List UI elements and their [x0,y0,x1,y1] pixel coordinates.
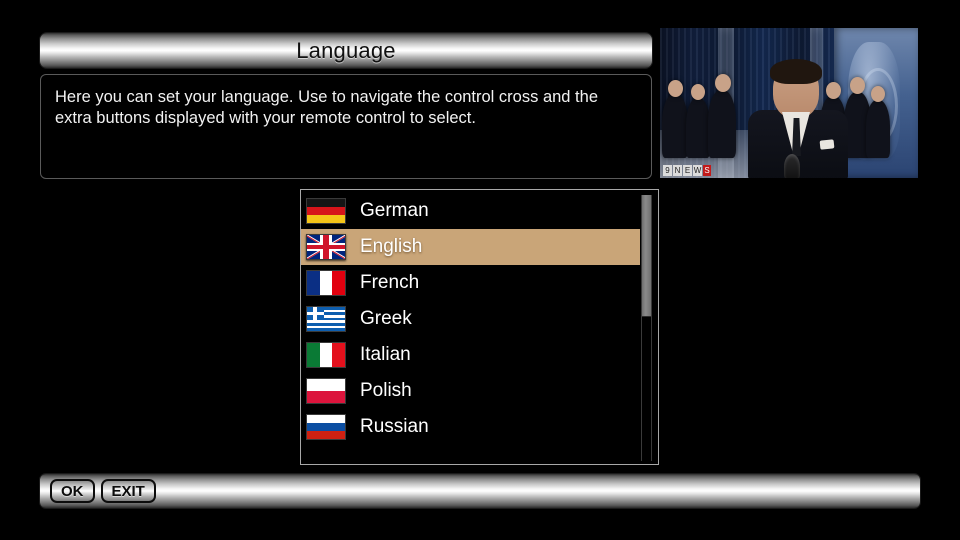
description-text: Here you can set your language. Use to n… [55,87,637,129]
list-item-label: German [360,200,429,222]
list-item[interactable]: English [301,229,640,265]
bug-char: E [683,165,692,176]
list-item[interactable]: Italian [301,337,640,373]
ok-button[interactable]: OK [50,479,95,503]
flag-it-icon [306,342,346,368]
flag-pl-icon [306,378,346,404]
page-title-bar: Language [40,33,652,68]
flag-ru-icon [306,414,346,440]
video-reporter [746,62,850,178]
bug-char: 9 [663,165,672,176]
reporter-hair [770,59,822,84]
bug-char: N [673,165,682,176]
scrollbar-track[interactable] [641,195,652,461]
scrollbar-thumb[interactable] [642,195,651,317]
flag-gr-icon [306,306,346,332]
bug-char: W [693,165,702,176]
reporter-pocket-square [820,139,835,149]
list-item-label: French [360,272,419,294]
list-item[interactable]: Polish [301,373,640,409]
list-item-label: Italian [360,344,411,366]
language-list-panel: German English French Greek [300,189,659,465]
channel-logo-bug: 9 N E W S [663,164,711,176]
microphone-icon [784,154,800,178]
list-item[interactable]: French [301,265,640,301]
list-item-label: Polish [360,380,412,402]
list-item[interactable]: German [301,193,640,229]
bug-char: S [703,165,711,176]
list-item-label: English [360,236,422,258]
exit-button[interactable]: EXIT [101,479,156,503]
list-item-label: Russian [360,416,429,438]
flag-fr-icon [306,270,346,296]
video-preview[interactable]: 9 N E W S [660,28,918,178]
language-list: German English French Greek [301,193,640,445]
page-title: Language [296,38,395,64]
list-item[interactable]: Russian [301,409,640,445]
list-item[interactable]: Greek [301,301,640,337]
flag-gb-icon [306,234,346,260]
flag-de-icon [306,198,346,224]
softkey-bar: OK EXIT [40,474,920,508]
description-box: Here you can set your language. Use to n… [40,74,652,179]
tv-settings-screen: Language Here you can set your language.… [0,0,960,540]
list-item-label: Greek [360,308,412,330]
